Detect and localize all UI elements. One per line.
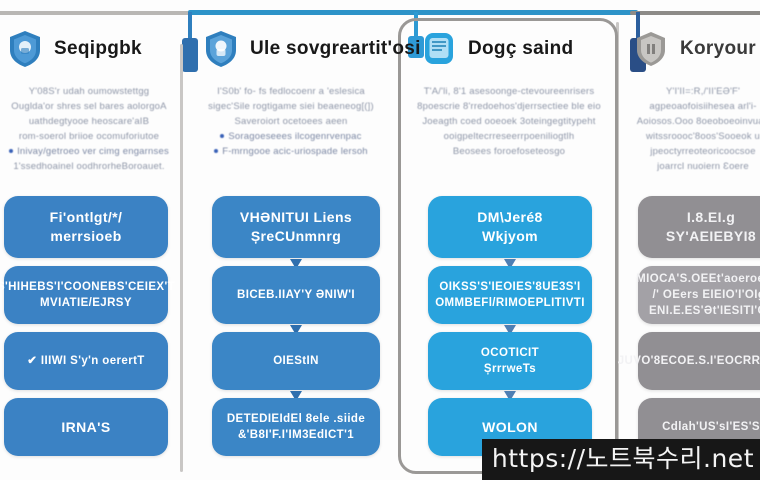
blurb-bullet-line: Soragoeseees ilcogenrvenpac bbox=[198, 129, 384, 144]
step-box[interactable]: OIEStIN bbox=[212, 332, 380, 390]
step-box[interactable]: Fi'ontlgt/*/ merrsioeb bbox=[4, 196, 168, 258]
bullet-dot-icon bbox=[214, 149, 218, 153]
blurb-line: Aoiosos.Ooo 8oeoboeoinvuao bbox=[628, 114, 760, 129]
blurb-line: agpeoaofoisiihesea arl'i- bbox=[628, 99, 760, 114]
column-2-steps: VHƏNITUI Liens ȘreCUnmnrg BICEB.IIAY'Y Ə… bbox=[212, 196, 380, 456]
column-2-title: Ule sovgreartit'osi bbox=[250, 38, 421, 60]
step-box[interactable]: S'HIHEBS'I'COONEBS'CEIEX'T MVIATIE/EJRSY bbox=[4, 266, 168, 324]
column-2-header: Ule sovgreartit'osi bbox=[204, 30, 421, 68]
step-box[interactable]: BICEB.IIAY'Y ƏNIW'I bbox=[212, 266, 380, 324]
blurb-bullet-line: F-mrngooe acic-uriospade lersoh bbox=[198, 144, 384, 159]
column-3-header: Dogç saind bbox=[422, 30, 573, 68]
column-1[interactable]: Seqipgbk Y'08S'r udah oumowstettgg Ougld… bbox=[0, 0, 180, 480]
step-box[interactable]: OCOTICIT ȘrrrweTs bbox=[428, 332, 592, 390]
blurb-line: Ouglda'or shres sel bares aolorgoA bbox=[6, 99, 172, 114]
blurb-line: rom-soerol briioe ocomuforiutoe bbox=[6, 129, 172, 144]
step-connector bbox=[428, 390, 592, 398]
column-1-blurb: Y'08S'r udah oumowstettgg Ouglda'or shre… bbox=[6, 84, 172, 174]
column-3[interactable]: Dogç saind T'A/'li, 8'1 asesoonge-ctevou… bbox=[402, 0, 616, 480]
step-connector bbox=[428, 324, 592, 332]
blurb-line: 8poescrie 8'rredoehos'djerrsectiee ble e… bbox=[412, 99, 606, 114]
blurb-line: uathdegtyooe heoscare'aIB bbox=[6, 114, 172, 129]
divider-1-2 bbox=[180, 44, 183, 472]
step-box[interactable]: OIKSS'S'IEOIES'8UE3S'I OMMBEFl/RIMOEPLIT… bbox=[428, 266, 592, 324]
step-box[interactable]: DETEDIEIdEl 8ele .siide &'B8I'F.I'IM3EdI… bbox=[212, 398, 380, 456]
step-box[interactable]: DM\Jeré8 Wkjyom bbox=[428, 196, 592, 258]
blurb-line: Y'08S'r udah oumowstettgg bbox=[6, 84, 172, 99]
step-box[interactable]: I.8.EI.g SY'AEIEBYI8 bbox=[638, 196, 760, 258]
blurb-line: joarrcl nuoiern Ɛoere bbox=[628, 159, 760, 174]
column-1-steps: Fi'ontlgt/*/ merrsioeb S'HIHEBS'I'COONEB… bbox=[4, 196, 168, 456]
column-3-steps: DM\Jeré8 Wkjyom OIKSS'S'IEOIES'8UE3S'I O… bbox=[428, 196, 592, 456]
column-4-title: Koryour bbox=[680, 38, 756, 60]
step-box[interactable]: VHƏNITUI Liens ȘreCUnmnrg bbox=[212, 196, 380, 258]
blurb-line: ooigpeltecrreseerrpoeniliogtlh bbox=[412, 129, 606, 144]
column-1-title: Seqipgbk bbox=[54, 38, 142, 60]
blurb-line: Beosees foroefoseteosgo bbox=[412, 144, 606, 159]
step-box[interactable]: JUVO'8ECOE.S.I'EOCRREŊIKE8 bbox=[638, 332, 760, 390]
blurb-line: Saveroiort ocetoees aeen bbox=[198, 114, 384, 129]
step-connector bbox=[428, 258, 592, 266]
gray-shield-icon bbox=[634, 30, 668, 68]
column-4-header: Koryour bbox=[634, 30, 756, 68]
diagram-canvas: Seqipgbk Y'08S'r udah oumowstettgg Ougld… bbox=[0, 0, 760, 480]
step-connector bbox=[212, 258, 380, 266]
blurb-line: I'S0b' fo- fs fedlocoenr a 'eslesica bbox=[198, 84, 384, 99]
blurb-line: Joeagth coed ooeoek 3oteingegtitypeht bbox=[412, 114, 606, 129]
column-4-blurb: Y'I'II=:R,/'II'EƏ'F' agpeoaofoisiihesea … bbox=[628, 84, 760, 174]
step-connector bbox=[212, 390, 380, 398]
blurb-line: 1'ssedhoainel oodhrorheBoroauet. bbox=[6, 159, 172, 174]
blurb-line: witssroooc'8oos'Sooeok u bbox=[628, 129, 760, 144]
blue-shield-icon bbox=[204, 30, 238, 68]
bullet-dot-icon bbox=[220, 134, 224, 138]
blurb-line: sigec'Sile rogtigame siei beaeneog[(]) bbox=[198, 99, 384, 114]
column-4[interactable]: Koryour Y'I'II=:R,/'II'EƏ'F' agpeoaofois… bbox=[620, 0, 760, 480]
column-2[interactable]: Ule sovgreartit'osi I'S0b' fo- fs fedloc… bbox=[184, 0, 398, 480]
site-watermark: https://노트북수리.net bbox=[482, 439, 760, 480]
step-box[interactable]: MIOCA'S.OEEt'aoeroe'ers /' OEers EIEIO'I… bbox=[638, 266, 760, 324]
column-1-header: Seqipgbk bbox=[8, 30, 142, 68]
blurb-line: T'A/'li, 8'1 asesoonge-ctevoureenrisers bbox=[412, 84, 606, 99]
blurb-line: Y'I'II=:R,/'II'EƏ'F' bbox=[628, 84, 760, 99]
blurb-line: jpeoctyrreoteoricoocsoe bbox=[628, 144, 760, 159]
bullet-dot-icon bbox=[9, 149, 13, 153]
step-connector bbox=[212, 324, 380, 332]
step-box[interactable]: IRNA'S bbox=[4, 398, 168, 456]
blurb-bullet-line: Inivay/getroeo ver cimg engarnses bbox=[6, 144, 172, 159]
blue-rounded-square-icon bbox=[422, 30, 456, 68]
column-3-blurb: T'A/'li, 8'1 asesoonge-ctevoureenrisers … bbox=[412, 84, 606, 159]
blue-shield-icon bbox=[8, 30, 42, 68]
step-box[interactable]: ✔ IIIWI S'y'n oerertT bbox=[4, 332, 168, 390]
column-2-blurb: I'S0b' fo- fs fedlocoenr a 'eslesica sig… bbox=[198, 84, 384, 159]
column-3-title: Dogç saind bbox=[468, 38, 573, 60]
column-4-steps: I.8.EI.g SY'AEIEBYI8 MIOCA'S.OEEt'aoeroe… bbox=[638, 196, 760, 456]
